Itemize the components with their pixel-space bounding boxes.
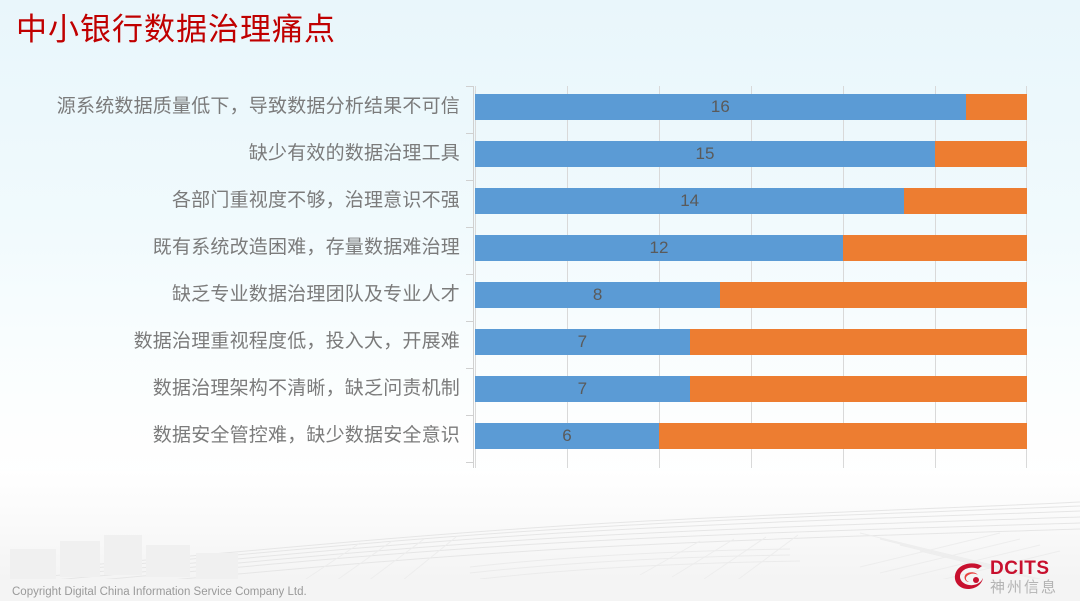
logo-wordmark: DCITS 神州信息 <box>990 558 1076 596</box>
category-label: 各部门重视度不够，治理意识不强 <box>0 189 460 213</box>
source-citation: ——中国银行家协会《中小银行数据治理研究报告》 <box>735 524 1062 544</box>
y-axis-tick <box>466 462 474 463</box>
y-axis-tick <box>466 274 474 275</box>
category-label: 数据治理架构不清晰，缺乏问责机制 <box>0 377 460 401</box>
bar-segment-series2[interactable] <box>904 188 1027 214</box>
bar-segment-series2[interactable] <box>966 94 1027 120</box>
y-axis-tick <box>466 321 474 322</box>
bar-row[interactable]: 15 <box>475 141 1027 167</box>
bar-segment-series2[interactable] <box>659 423 1027 449</box>
bar-value-label: 7 <box>475 376 690 402</box>
y-axis-line <box>473 86 474 468</box>
y-axis-tick <box>466 415 474 416</box>
bar-row[interactable]: 6 <box>475 423 1027 449</box>
slide: 中小银行数据治理痛点 源系统数据质量低下，导致数据分析结果不可信 缺少有效的数据… <box>0 0 1080 601</box>
bar-value-label: 16 <box>475 94 966 120</box>
y-axis-tick <box>466 180 474 181</box>
bar-row[interactable]: 7 <box>475 376 1027 402</box>
logo-chinese-text: 神州信息 <box>990 579 1076 596</box>
y-axis-tick <box>466 86 474 87</box>
logo-english-text: DCITS <box>990 558 1076 579</box>
y-axis-tick <box>466 368 474 369</box>
bar-segment-series2[interactable] <box>690 329 1027 355</box>
y-axis-tick <box>466 227 474 228</box>
category-label: 数据治理重视程度低，投入大，开展难 <box>0 330 460 354</box>
copyright-text: Copyright Digital China Information Serv… <box>12 586 307 598</box>
bar-value-label: 6 <box>475 423 659 449</box>
bar-value-label: 12 <box>475 235 843 261</box>
dcits-logo: DCITS 神州信息 <box>948 555 1076 599</box>
bar-value-label: 7 <box>475 329 690 355</box>
bar-segment-series2[interactable] <box>690 376 1027 402</box>
bar-segment-series2[interactable] <box>935 141 1027 167</box>
page-title: 中小银行数据治理痛点 <box>16 8 336 52</box>
category-axis-labels: 源系统数据质量低下，导致数据分析结果不可信 缺少有效的数据治理工具 各部门重视度… <box>0 86 462 468</box>
dcits-swoosh-icon <box>952 561 986 593</box>
y-axis-tick <box>466 133 474 134</box>
category-label: 既有系统改造困难，存量数据难治理 <box>0 236 460 260</box>
bar-row[interactable]: 7 <box>475 329 1027 355</box>
bar-value-label: 14 <box>475 188 904 214</box>
bar-value-label: 15 <box>475 141 935 167</box>
bar-segment-series2[interactable] <box>843 235 1027 261</box>
category-label: 数据安全管控难，缺少数据安全意识 <box>0 424 460 448</box>
bar-row[interactable]: 16 <box>475 94 1027 120</box>
bar-segment-series2[interactable] <box>720 282 1027 308</box>
category-label: 缺乏专业数据治理团队及专业人才 <box>0 283 460 307</box>
bar-row[interactable]: 12 <box>475 235 1027 261</box>
bar-row[interactable]: 8 <box>475 282 1027 308</box>
bar-row[interactable]: 14 <box>475 188 1027 214</box>
category-label: 缺少有效的数据治理工具 <box>0 142 460 166</box>
category-label: 源系统数据质量低下，导致数据分析结果不可信 <box>0 95 460 119</box>
bar-value-label: 8 <box>475 282 720 308</box>
stacked-bar-chart: 源系统数据质量低下，导致数据分析结果不可信 缺少有效的数据治理工具 各部门重视度… <box>0 86 1045 468</box>
plot-area: 16 15 14 12 8 <box>475 86 1027 468</box>
